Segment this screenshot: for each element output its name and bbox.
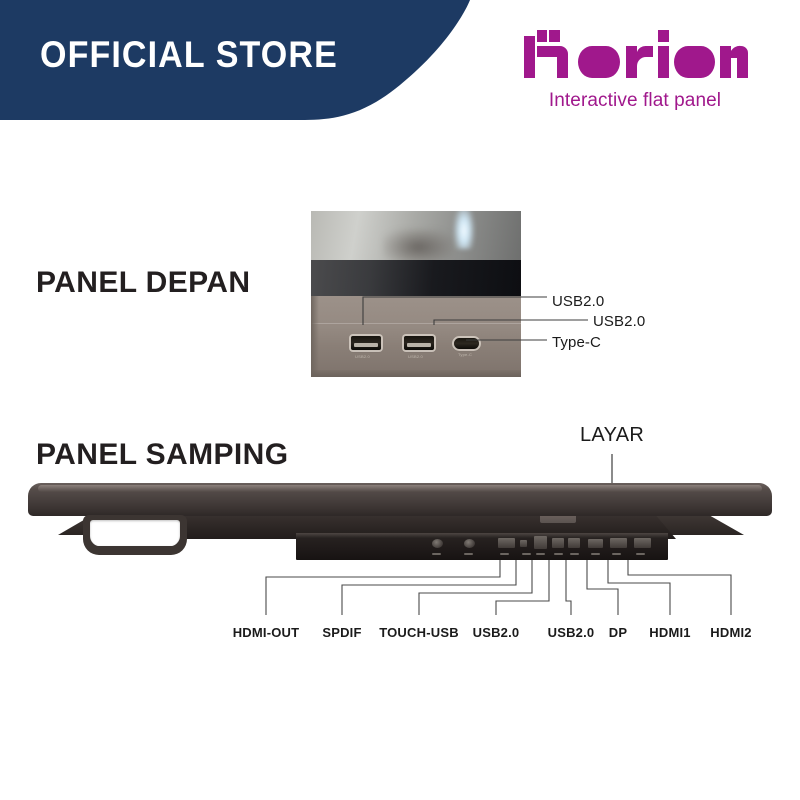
device-handle-opening [90,520,180,546]
side-label-spdif: SPDIF [322,625,361,640]
front-usb-port-2 [404,336,434,350]
front-photo-left-edge [311,296,319,377]
front-panel-photo: USB2.0 USB2.0 Type-C [311,211,521,377]
front-photo-bottom-edge [311,370,521,377]
front-usb-port-1 [351,336,381,350]
side-port-hdmi1 [610,538,627,548]
side-port-hdmi-out [432,539,443,548]
side-port-tick [636,553,645,555]
side-label-hdmi2: HDMI2 [710,625,751,640]
side-panel-device [28,483,772,561]
front-typec-port [454,338,479,349]
front-photo-flare [453,211,475,249]
front-label-usb2-mid: USB2.0 [593,313,645,330]
usb-tongue [354,343,378,347]
brand-block: Interactive flat panel [505,28,765,112]
device-bezel-highlight [38,485,762,492]
side-port-usb2-a [552,538,564,548]
side-port-tick [500,553,509,555]
front-port-caption-usb-1: USB2.0 [355,354,370,359]
side-port-rj45 [534,536,547,549]
side-port-hdmi2 [634,538,651,548]
front-label-typec: Type-C [552,334,601,351]
side-port-spdif [464,539,475,548]
side-port-tick [522,553,531,555]
front-port-caption-typec: Type-C [458,352,472,357]
infographic-page: OFFICIAL STORE [0,0,800,800]
side-port-tick [554,553,563,555]
side-port-tick [612,553,621,555]
side-port-tick [432,553,441,555]
panel-depan-heading: PANEL DEPAN [36,266,250,300]
front-photo-seam [311,323,521,324]
usb-tongue [407,343,431,347]
device-top-bezel [28,483,772,516]
front-port-caption-usb-2: USB2.0 [408,354,423,359]
side-label-touch-usb: TOUCH-USB [379,625,459,640]
horion-logo [522,28,748,84]
official-store-label: OFFICIAL STORE [40,36,338,73]
side-callout-lines [0,545,800,745]
side-label-usb2-a: USB2.0 [473,625,520,640]
side-label-hdmi-out: HDMI-OUT [233,625,300,640]
side-port-tick [591,553,600,555]
side-port-usb2-b [568,538,580,548]
side-label-hdmi1: HDMI1 [649,625,690,640]
side-port-dp [588,539,603,548]
side-label-dp: DP [609,625,627,640]
front-label-usb2-top: USB2.0 [552,293,604,310]
side-port-small-aux [520,540,527,547]
side-port-tick [570,553,579,555]
side-port-tick [464,553,473,555]
layar-label: LAYAR [580,424,644,447]
header-banner: OFFICIAL STORE [0,0,800,124]
side-port-touch-usb [498,538,515,548]
brand-tagline: Interactive flat panel [505,90,765,112]
side-port-tick [536,553,545,555]
side-label-usb2-b: USB2.0 [548,625,595,640]
front-photo-dark-band [311,260,521,296]
panel-samping-heading: PANEL SAMPING [36,438,288,472]
